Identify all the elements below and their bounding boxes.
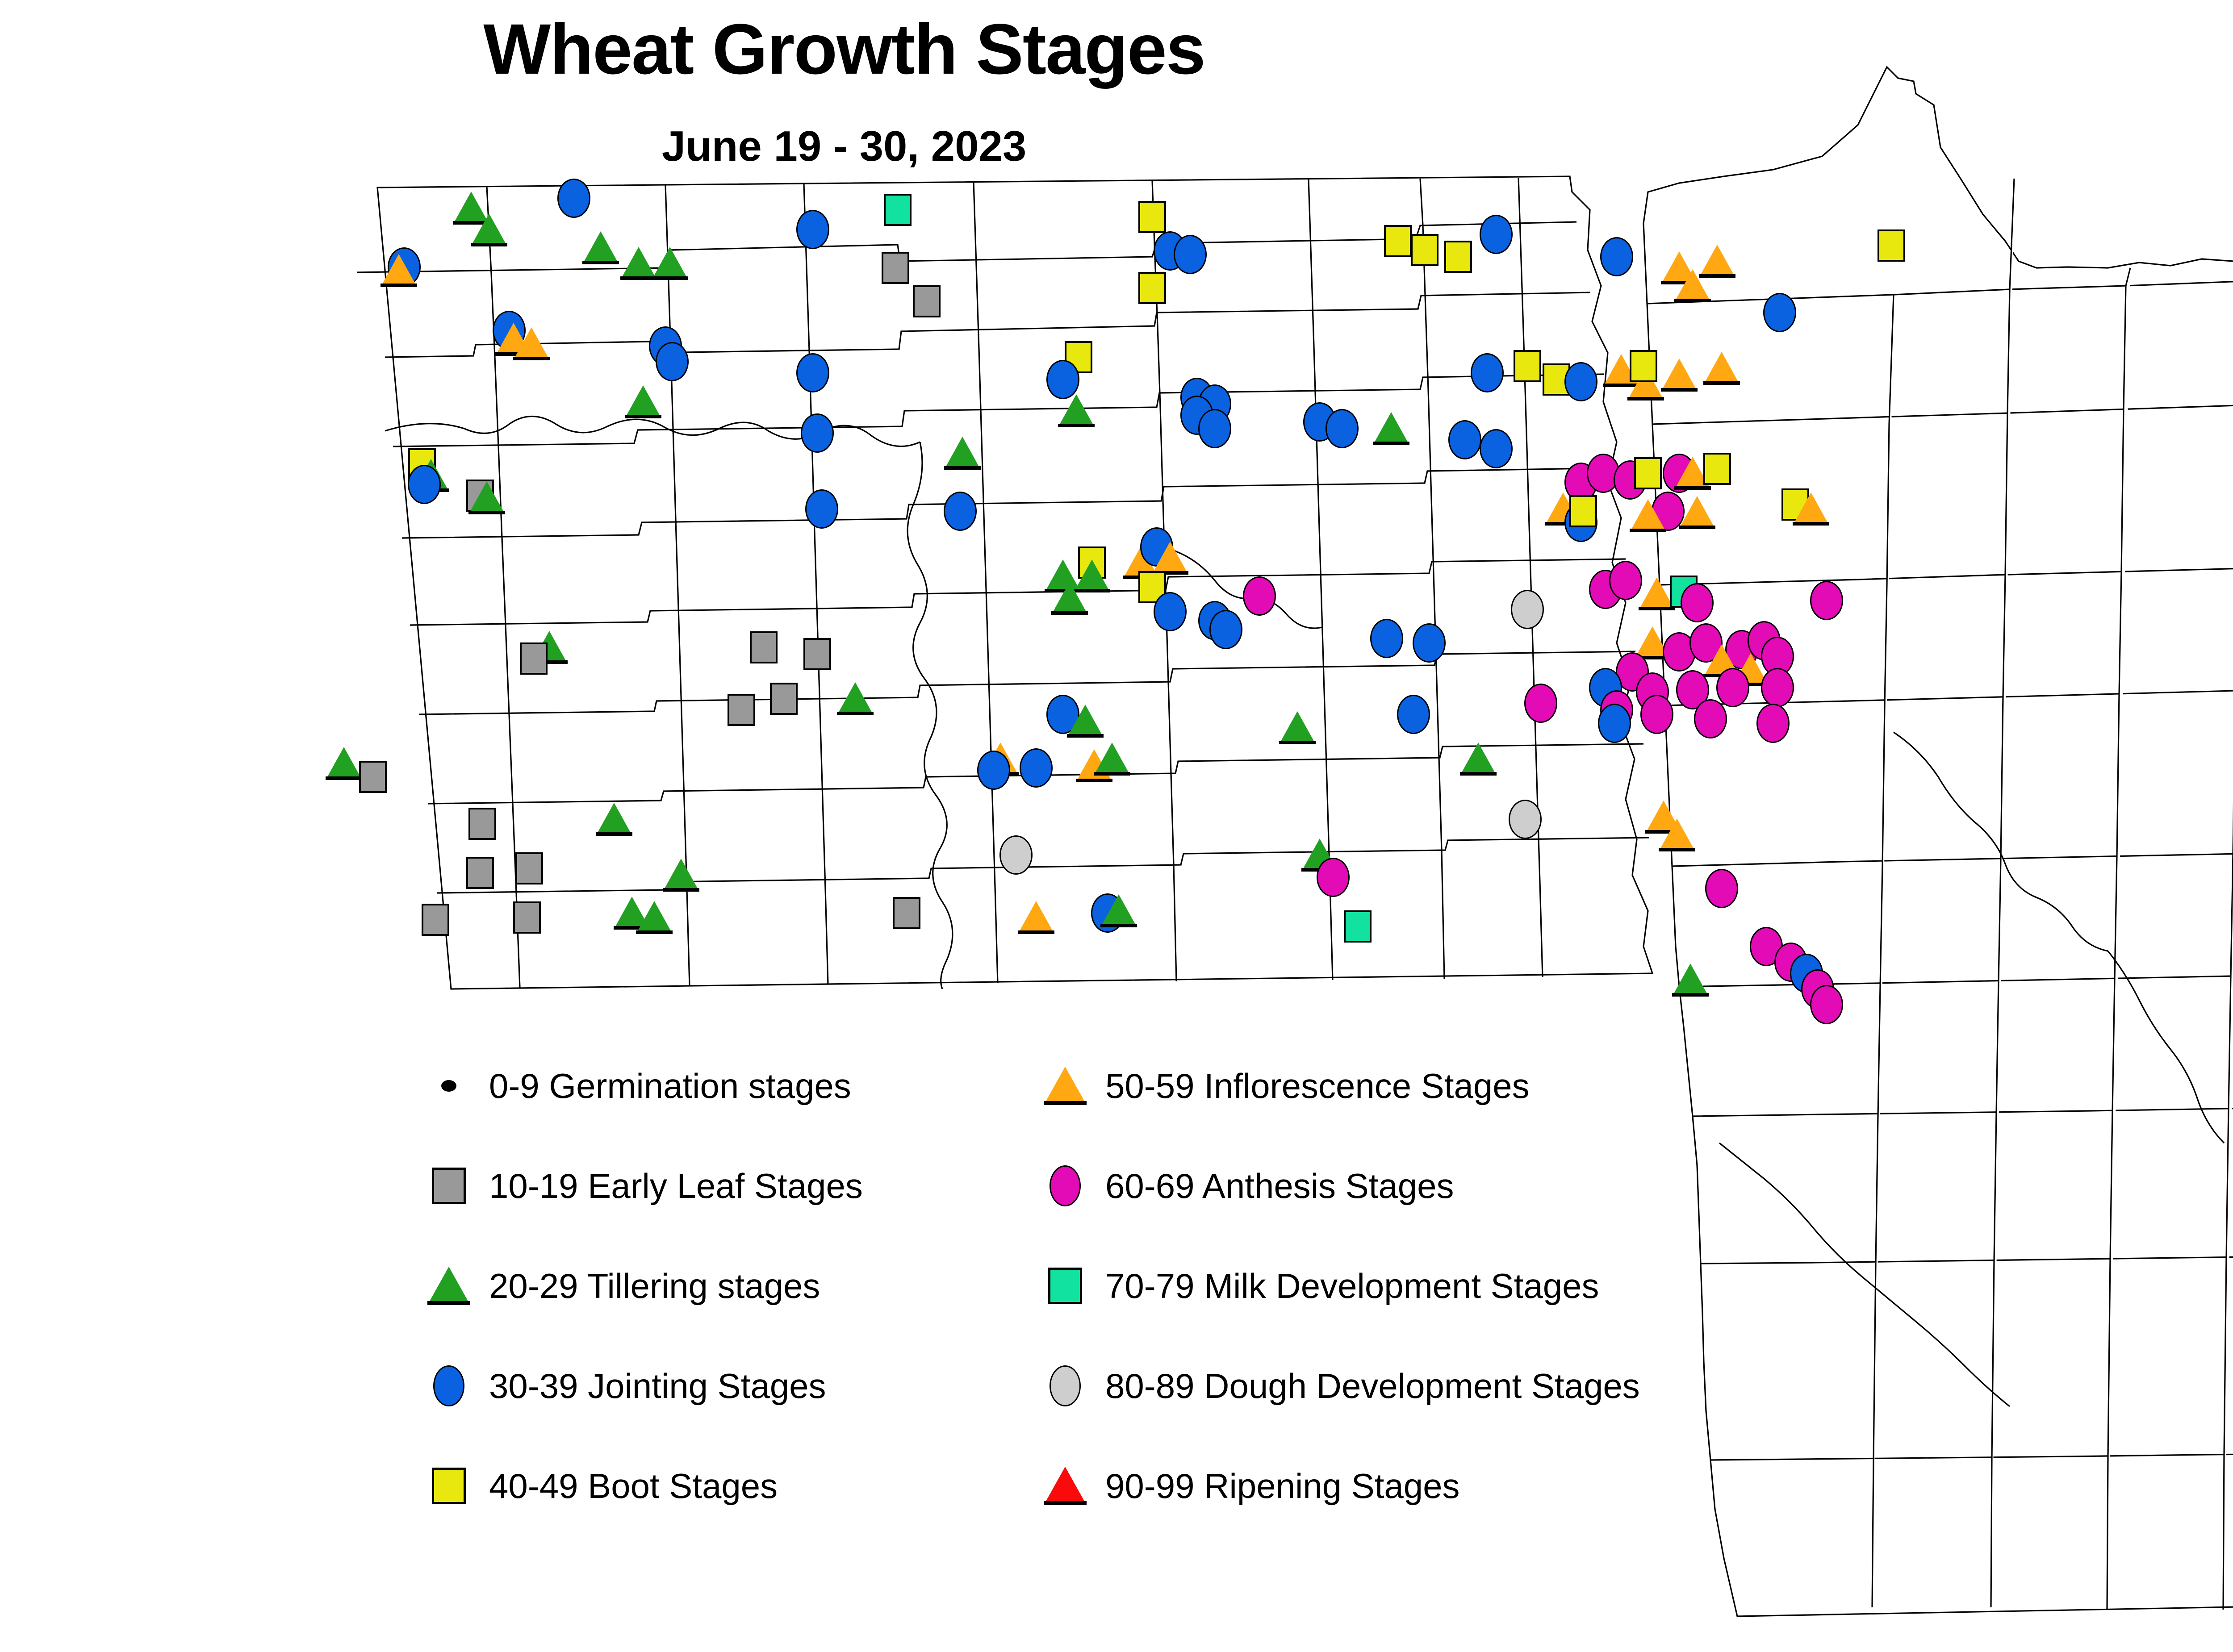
map-marker-circle xyxy=(557,179,590,218)
triangle-glyph xyxy=(625,385,661,418)
legend-symbol-square xyxy=(432,1168,466,1204)
legend-symbol-square xyxy=(1048,1268,1082,1304)
map-marker-square xyxy=(1138,201,1166,233)
map-marker-square xyxy=(1878,229,1905,262)
triangle-base xyxy=(1279,741,1316,744)
map-marker-square xyxy=(1384,225,1412,257)
legend-item-label: 20-29 Tillering stages xyxy=(489,1268,820,1303)
legend-symbol xyxy=(415,1157,482,1215)
legend-item-label: 30-39 Jointing Stages xyxy=(489,1368,826,1403)
triangle-glyph xyxy=(837,682,874,715)
map-marker-circle xyxy=(1480,429,1513,468)
triangle-base xyxy=(468,511,505,514)
map-marker-circle xyxy=(1640,695,1673,734)
map-marker-triangle xyxy=(596,803,632,836)
legend-symbol-square xyxy=(432,1468,466,1504)
map-marker-triangle xyxy=(1672,964,1709,997)
triangle-base xyxy=(1674,299,1711,302)
triangle-base xyxy=(1627,397,1664,400)
triangle-base xyxy=(1679,526,1715,529)
map-marker-triangle xyxy=(1094,743,1130,776)
triangle-base xyxy=(652,276,688,280)
triangle-base xyxy=(625,415,661,418)
map-marker-circle xyxy=(1600,237,1633,276)
triangle-glyph xyxy=(1067,705,1104,738)
map-marker-circle xyxy=(1020,748,1053,788)
map-marker-triangle xyxy=(468,481,505,514)
triangle-base xyxy=(427,1301,470,1305)
triangle-glyph xyxy=(1152,542,1188,575)
map-marker-triangle xyxy=(381,254,417,287)
triangle-base xyxy=(1094,772,1130,776)
map-marker-triangle xyxy=(1703,352,1740,385)
map-marker-circle xyxy=(1694,699,1727,738)
triangle-base xyxy=(1044,1501,1087,1505)
minnesota-counties xyxy=(1643,67,2233,1616)
map-marker-circle xyxy=(999,835,1033,875)
map-marker-circle xyxy=(944,492,977,531)
map-marker-circle xyxy=(1397,695,1430,734)
triangle-glyph xyxy=(1674,269,1711,302)
legend-symbol xyxy=(415,1257,482,1315)
legend-symbol-circle xyxy=(1050,1365,1081,1406)
map-marker-square xyxy=(513,901,541,934)
map-marker-triangle xyxy=(1058,394,1095,427)
legend-symbol xyxy=(1032,1457,1099,1515)
map-marker-triangle xyxy=(582,231,619,264)
legend-symbol xyxy=(415,1457,482,1515)
map-marker-triangle xyxy=(1051,582,1088,615)
triangle-glyph xyxy=(1661,359,1698,392)
triangle-base xyxy=(1674,486,1711,490)
map-marker-circle xyxy=(1609,561,1642,600)
map-marker-circle xyxy=(1370,619,1403,658)
map-marker-circle xyxy=(1756,704,1790,743)
legend-symbol xyxy=(415,1057,482,1115)
triangle-glyph xyxy=(1373,412,1409,445)
triangle-glyph xyxy=(427,1267,470,1305)
map-marker-triangle xyxy=(1279,711,1316,744)
map-marker-square xyxy=(1634,457,1662,489)
map-marker-triangle xyxy=(1067,705,1104,738)
legend-column-left: 0-9 Germination stages10-19 Early Leaf S… xyxy=(415,1036,1041,1536)
triangle-base xyxy=(1067,734,1104,738)
map-marker-circle xyxy=(1471,353,1504,392)
map-marker-triangle xyxy=(1661,359,1698,392)
triangle-glyph xyxy=(513,327,550,360)
map-marker-triangle xyxy=(625,385,661,418)
triangle-glyph xyxy=(1279,711,1316,744)
map-marker-square xyxy=(770,683,798,715)
map-marker-square xyxy=(1514,350,1541,382)
map-marker-triangle xyxy=(326,747,362,780)
map-marker-circle xyxy=(1154,592,1187,631)
map-marker-square xyxy=(422,904,449,936)
map-marker-triangle xyxy=(652,247,688,280)
legend-item-label: 80-89 Dough Development Stages xyxy=(1105,1368,1640,1403)
triangle-base xyxy=(1703,381,1740,385)
triangle-glyph xyxy=(1094,743,1130,776)
map-marker-circle xyxy=(1524,684,1557,723)
map-marker-square xyxy=(1630,350,1657,382)
triangle-glyph xyxy=(1659,818,1695,851)
map-marker-circle xyxy=(1511,590,1544,629)
legend-symbol-triangle xyxy=(427,1267,470,1305)
map-marker-triangle xyxy=(513,327,550,360)
map-marker-triangle xyxy=(1018,901,1054,934)
map-marker-circle xyxy=(1209,610,1242,649)
map-marker-circle xyxy=(1598,704,1631,743)
triangle-glyph xyxy=(471,213,507,246)
map-marker-square xyxy=(359,761,387,793)
map-marker-circle xyxy=(1413,623,1446,663)
triangle-base xyxy=(326,776,362,780)
legend-item[interactable]: 60-69 Anthesis Stages xyxy=(1032,1136,1666,1236)
map-marker-square xyxy=(803,638,831,670)
triangle-base xyxy=(1672,993,1709,997)
legend-item[interactable]: 50-59 Inflorescence Stages xyxy=(1032,1036,1666,1136)
triangle-glyph xyxy=(1672,964,1709,997)
triangle-base xyxy=(471,243,507,246)
map-marker-square xyxy=(884,194,912,226)
triangle-base xyxy=(1018,930,1054,934)
map-marker-triangle xyxy=(636,901,673,934)
legend-item-label: 0-9 Germination stages xyxy=(489,1068,851,1103)
map-marker-circle xyxy=(805,489,838,529)
triangle-base xyxy=(1659,848,1695,851)
triangle-glyph xyxy=(1630,499,1666,532)
map-marker-square xyxy=(913,285,941,317)
legend-item-label: 50-59 Inflorescence Stages xyxy=(1105,1068,1530,1103)
map-marker-square xyxy=(1138,272,1166,304)
triangle-base xyxy=(1044,1101,1087,1105)
map-marker-circle xyxy=(977,751,1010,790)
triangle-base xyxy=(381,284,417,287)
map-marker-triangle xyxy=(1373,412,1409,445)
triangle-glyph xyxy=(1100,894,1137,927)
map-marker-square xyxy=(1344,910,1372,943)
triangle-glyph xyxy=(1018,901,1054,934)
triangle-glyph xyxy=(468,481,505,514)
triangle-glyph xyxy=(582,231,619,264)
map-marker-square xyxy=(893,897,920,929)
legend-item[interactable]: 90-99 Ripening Stages xyxy=(1032,1436,1666,1536)
map-marker-circle xyxy=(1810,985,1843,1024)
map-marker-triangle xyxy=(1152,542,1188,575)
legend-item[interactable]: 30-39 Jointing Stages xyxy=(415,1336,1041,1436)
triangle-glyph xyxy=(1460,743,1497,776)
legend-item[interactable]: 40-49 Boot Stages xyxy=(415,1436,1041,1536)
legend-symbol-circle xyxy=(433,1365,464,1406)
triangle-glyph xyxy=(1051,582,1088,615)
triangle-base xyxy=(582,261,619,264)
triangle-glyph xyxy=(652,247,688,280)
legend: 0-9 Germination stages10-19 Early Leaf S… xyxy=(415,1036,1666,1536)
map-marker-triangle xyxy=(944,437,981,470)
map-marker-circle xyxy=(1681,583,1714,622)
map-marker-triangle xyxy=(471,213,507,246)
map-marker-circle xyxy=(1480,215,1513,254)
triangle-glyph xyxy=(596,803,632,836)
map-marker-circle xyxy=(1509,800,1542,839)
legend-item-label: 10-19 Early Leaf Stages xyxy=(489,1168,863,1203)
map-marker-circle xyxy=(1174,235,1207,274)
map-marker-circle xyxy=(408,465,441,504)
legend-item[interactable]: 70-79 Milk Development Stages xyxy=(1032,1236,1666,1336)
map-marker-square xyxy=(1411,234,1438,266)
map-marker-square xyxy=(1444,241,1472,273)
legend-symbol xyxy=(1032,1057,1099,1115)
map-marker-triangle xyxy=(1793,492,1829,526)
map-marker-circle xyxy=(796,210,829,249)
map-marker-triangle xyxy=(663,859,699,892)
triangle-glyph xyxy=(1793,492,1829,526)
map-marker-triangle xyxy=(1100,894,1137,927)
map-marker-square xyxy=(520,642,548,675)
legend-item-label: 40-49 Boot Stages xyxy=(489,1468,778,1503)
legend-symbol xyxy=(1032,1157,1099,1215)
triangle-base xyxy=(1058,424,1095,427)
triangle-glyph xyxy=(1679,496,1715,529)
map-marker-circle xyxy=(1716,668,1749,707)
legend-item[interactable]: 0-9 Germination stages xyxy=(415,1036,1041,1136)
legend-item[interactable]: 10-19 Early Leaf Stages xyxy=(415,1136,1041,1236)
triangle-base xyxy=(663,888,699,892)
triangle-base xyxy=(1100,924,1137,927)
triangle-glyph xyxy=(1058,394,1095,427)
legend-item-label: 90-99 Ripening Stages xyxy=(1105,1468,1460,1503)
triangle-base xyxy=(1076,779,1112,782)
triangle-base xyxy=(1661,388,1698,392)
legend-symbol-triangle xyxy=(1044,1067,1087,1105)
map-marker-circle xyxy=(1326,409,1359,448)
map-marker-circle xyxy=(656,342,689,381)
triangle-glyph xyxy=(326,747,362,780)
triangle-glyph xyxy=(663,859,699,892)
triangle-base xyxy=(1051,611,1088,615)
triangle-base xyxy=(837,712,874,715)
legend-item[interactable]: 20-29 Tillering stages xyxy=(415,1236,1041,1336)
legend-column-right: 50-59 Inflorescence Stages60-69 Anthesis… xyxy=(1032,1036,1666,1536)
triangle-glyph xyxy=(636,901,673,934)
map-marker-circle xyxy=(1564,362,1597,401)
triangle-glyph xyxy=(1044,1467,1087,1505)
map-marker-square xyxy=(515,852,543,884)
map-marker-square xyxy=(468,808,496,840)
map-marker-circle xyxy=(1317,858,1350,897)
triangle-base xyxy=(1373,442,1409,445)
poster-root: Wheat Growth Stages June 19 - 30, 2023 xyxy=(0,0,2233,1652)
map-marker-triangle xyxy=(1674,269,1711,302)
map-marker-triangle xyxy=(1630,499,1666,532)
legend-symbol-circle xyxy=(1050,1165,1081,1206)
map-marker-square xyxy=(1703,453,1731,485)
triangle-glyph xyxy=(381,254,417,287)
map-marker-triangle xyxy=(1460,743,1497,776)
map-marker-square xyxy=(728,694,755,726)
legend-item-label: 60-69 Anthesis Stages xyxy=(1105,1168,1454,1203)
triangle-glyph xyxy=(1044,1067,1087,1105)
legend-symbol xyxy=(1032,1357,1099,1415)
legend-item[interactable]: 80-89 Dough Development Stages xyxy=(1032,1336,1666,1436)
legend-symbol xyxy=(1032,1257,1099,1315)
map-marker-circle xyxy=(1763,293,1796,332)
map-marker-circle xyxy=(796,353,829,392)
map-marker-circle xyxy=(1046,360,1079,399)
map-marker-triangle xyxy=(1659,818,1695,851)
legend-item-label: 70-79 Milk Development Stages xyxy=(1105,1268,1599,1303)
legend-symbol xyxy=(415,1357,482,1415)
triangle-base xyxy=(1793,522,1829,526)
map-marker-square xyxy=(750,631,778,663)
map-marker-circle xyxy=(801,413,834,453)
map-marker-square xyxy=(882,252,909,284)
triangle-base xyxy=(944,466,981,470)
map-marker-circle xyxy=(1705,869,1738,908)
map-marker-circle xyxy=(1198,409,1231,448)
legend-symbol-circle xyxy=(441,1080,456,1092)
triangle-glyph xyxy=(944,437,981,470)
map-marker-square xyxy=(466,857,494,889)
legend-symbol-triangle xyxy=(1044,1467,1087,1505)
map-marker-circle xyxy=(1448,420,1481,459)
triangle-base xyxy=(1460,772,1497,776)
map-marker-circle xyxy=(1761,668,1794,707)
triangle-base xyxy=(636,930,673,934)
triangle-base xyxy=(596,832,632,836)
triangle-base xyxy=(513,357,550,360)
triangle-glyph xyxy=(1703,352,1740,385)
map-marker-circle xyxy=(1810,581,1843,620)
map-marker-triangle xyxy=(1679,496,1715,529)
map-marker-triangle xyxy=(837,682,874,715)
triangle-base xyxy=(1630,529,1666,532)
map-marker-circle xyxy=(1243,576,1276,616)
map-marker-square xyxy=(1569,495,1597,527)
